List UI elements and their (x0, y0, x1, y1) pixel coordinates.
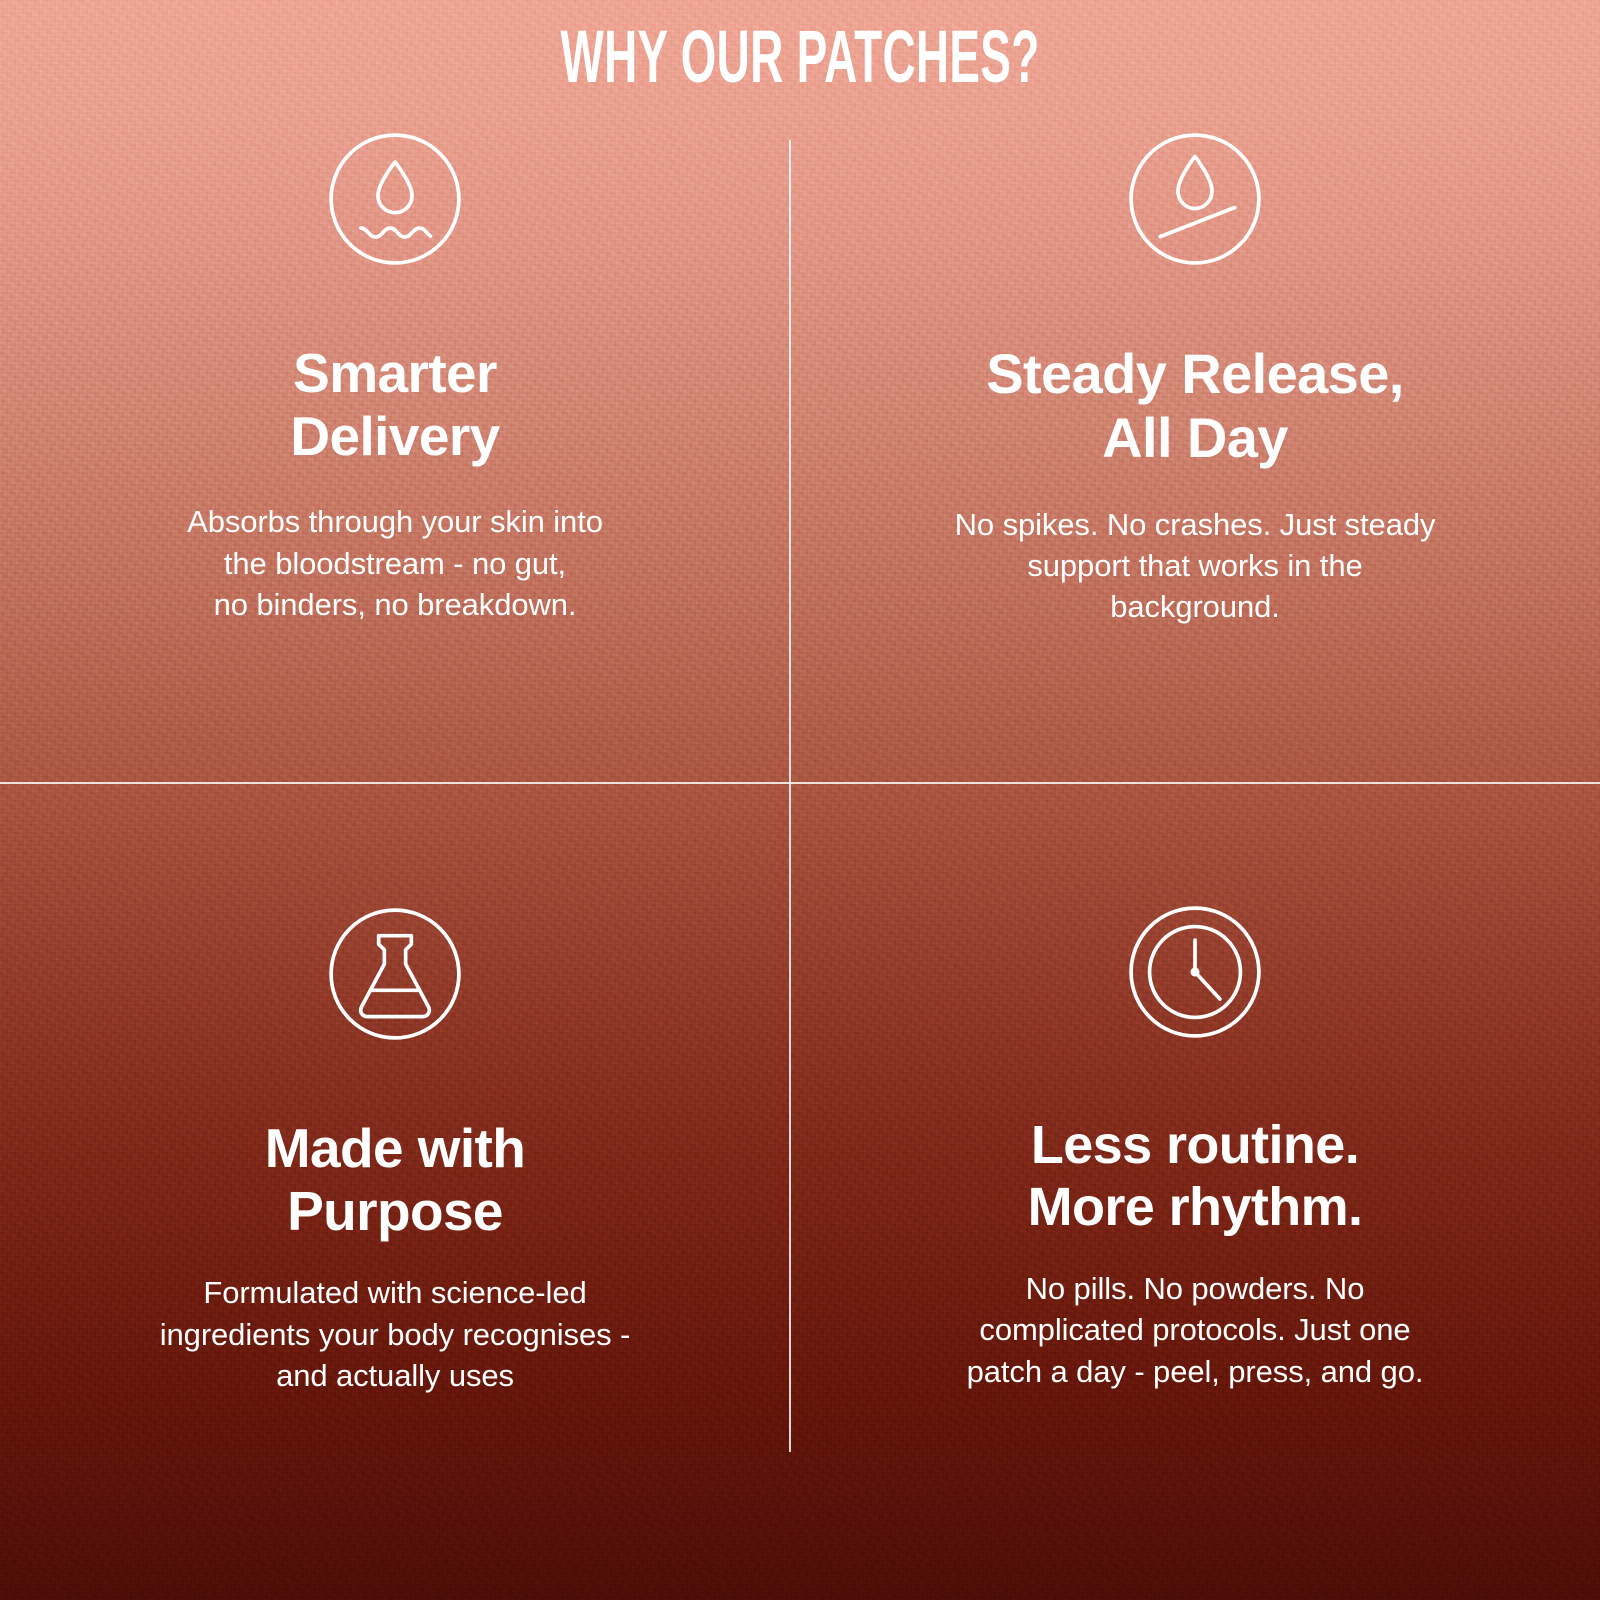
poster-canvas: WHY OUR PATCHES? Smarter Delivery Absorb… (0, 0, 1600, 1600)
benefit-card-made-with-purpose: Made with Purpose Formulated with scienc… (0, 783, 790, 1600)
flask-icon (324, 903, 466, 1045)
card-title: Steady Release, All Day (986, 342, 1403, 470)
card-title: Less routine. More rhythm. (1028, 1115, 1363, 1238)
droplet-wave-icon (324, 128, 466, 270)
card-body: Formulated with science-led ingredients … (160, 1272, 630, 1396)
clock-icon (1124, 901, 1266, 1043)
card-body: No pills. No powders. No complicated pro… (967, 1268, 1424, 1392)
benefit-grid: Smarter Delivery Absorbs through your sk… (0, 0, 1600, 1600)
benefit-card-less-routine: Less routine. More rhythm. No pills. No … (790, 783, 1600, 1600)
droplet-slope-icon (1124, 128, 1266, 270)
vertical-divider (789, 140, 791, 1452)
horizontal-divider (0, 782, 1600, 784)
card-body: Absorbs through your skin into the blood… (187, 501, 603, 625)
card-body: No spikes. No crashes. Just steady suppo… (955, 504, 1436, 628)
card-title: Made with Purpose (265, 1117, 525, 1242)
benefit-card-steady-release: Steady Release, All Day No spikes. No cr… (790, 0, 1600, 783)
card-title: Smarter Delivery (290, 342, 499, 467)
page-title: WHY OUR PATCHES? (304, 20, 1296, 94)
benefit-card-smarter-delivery: Smarter Delivery Absorbs through your sk… (0, 0, 790, 783)
